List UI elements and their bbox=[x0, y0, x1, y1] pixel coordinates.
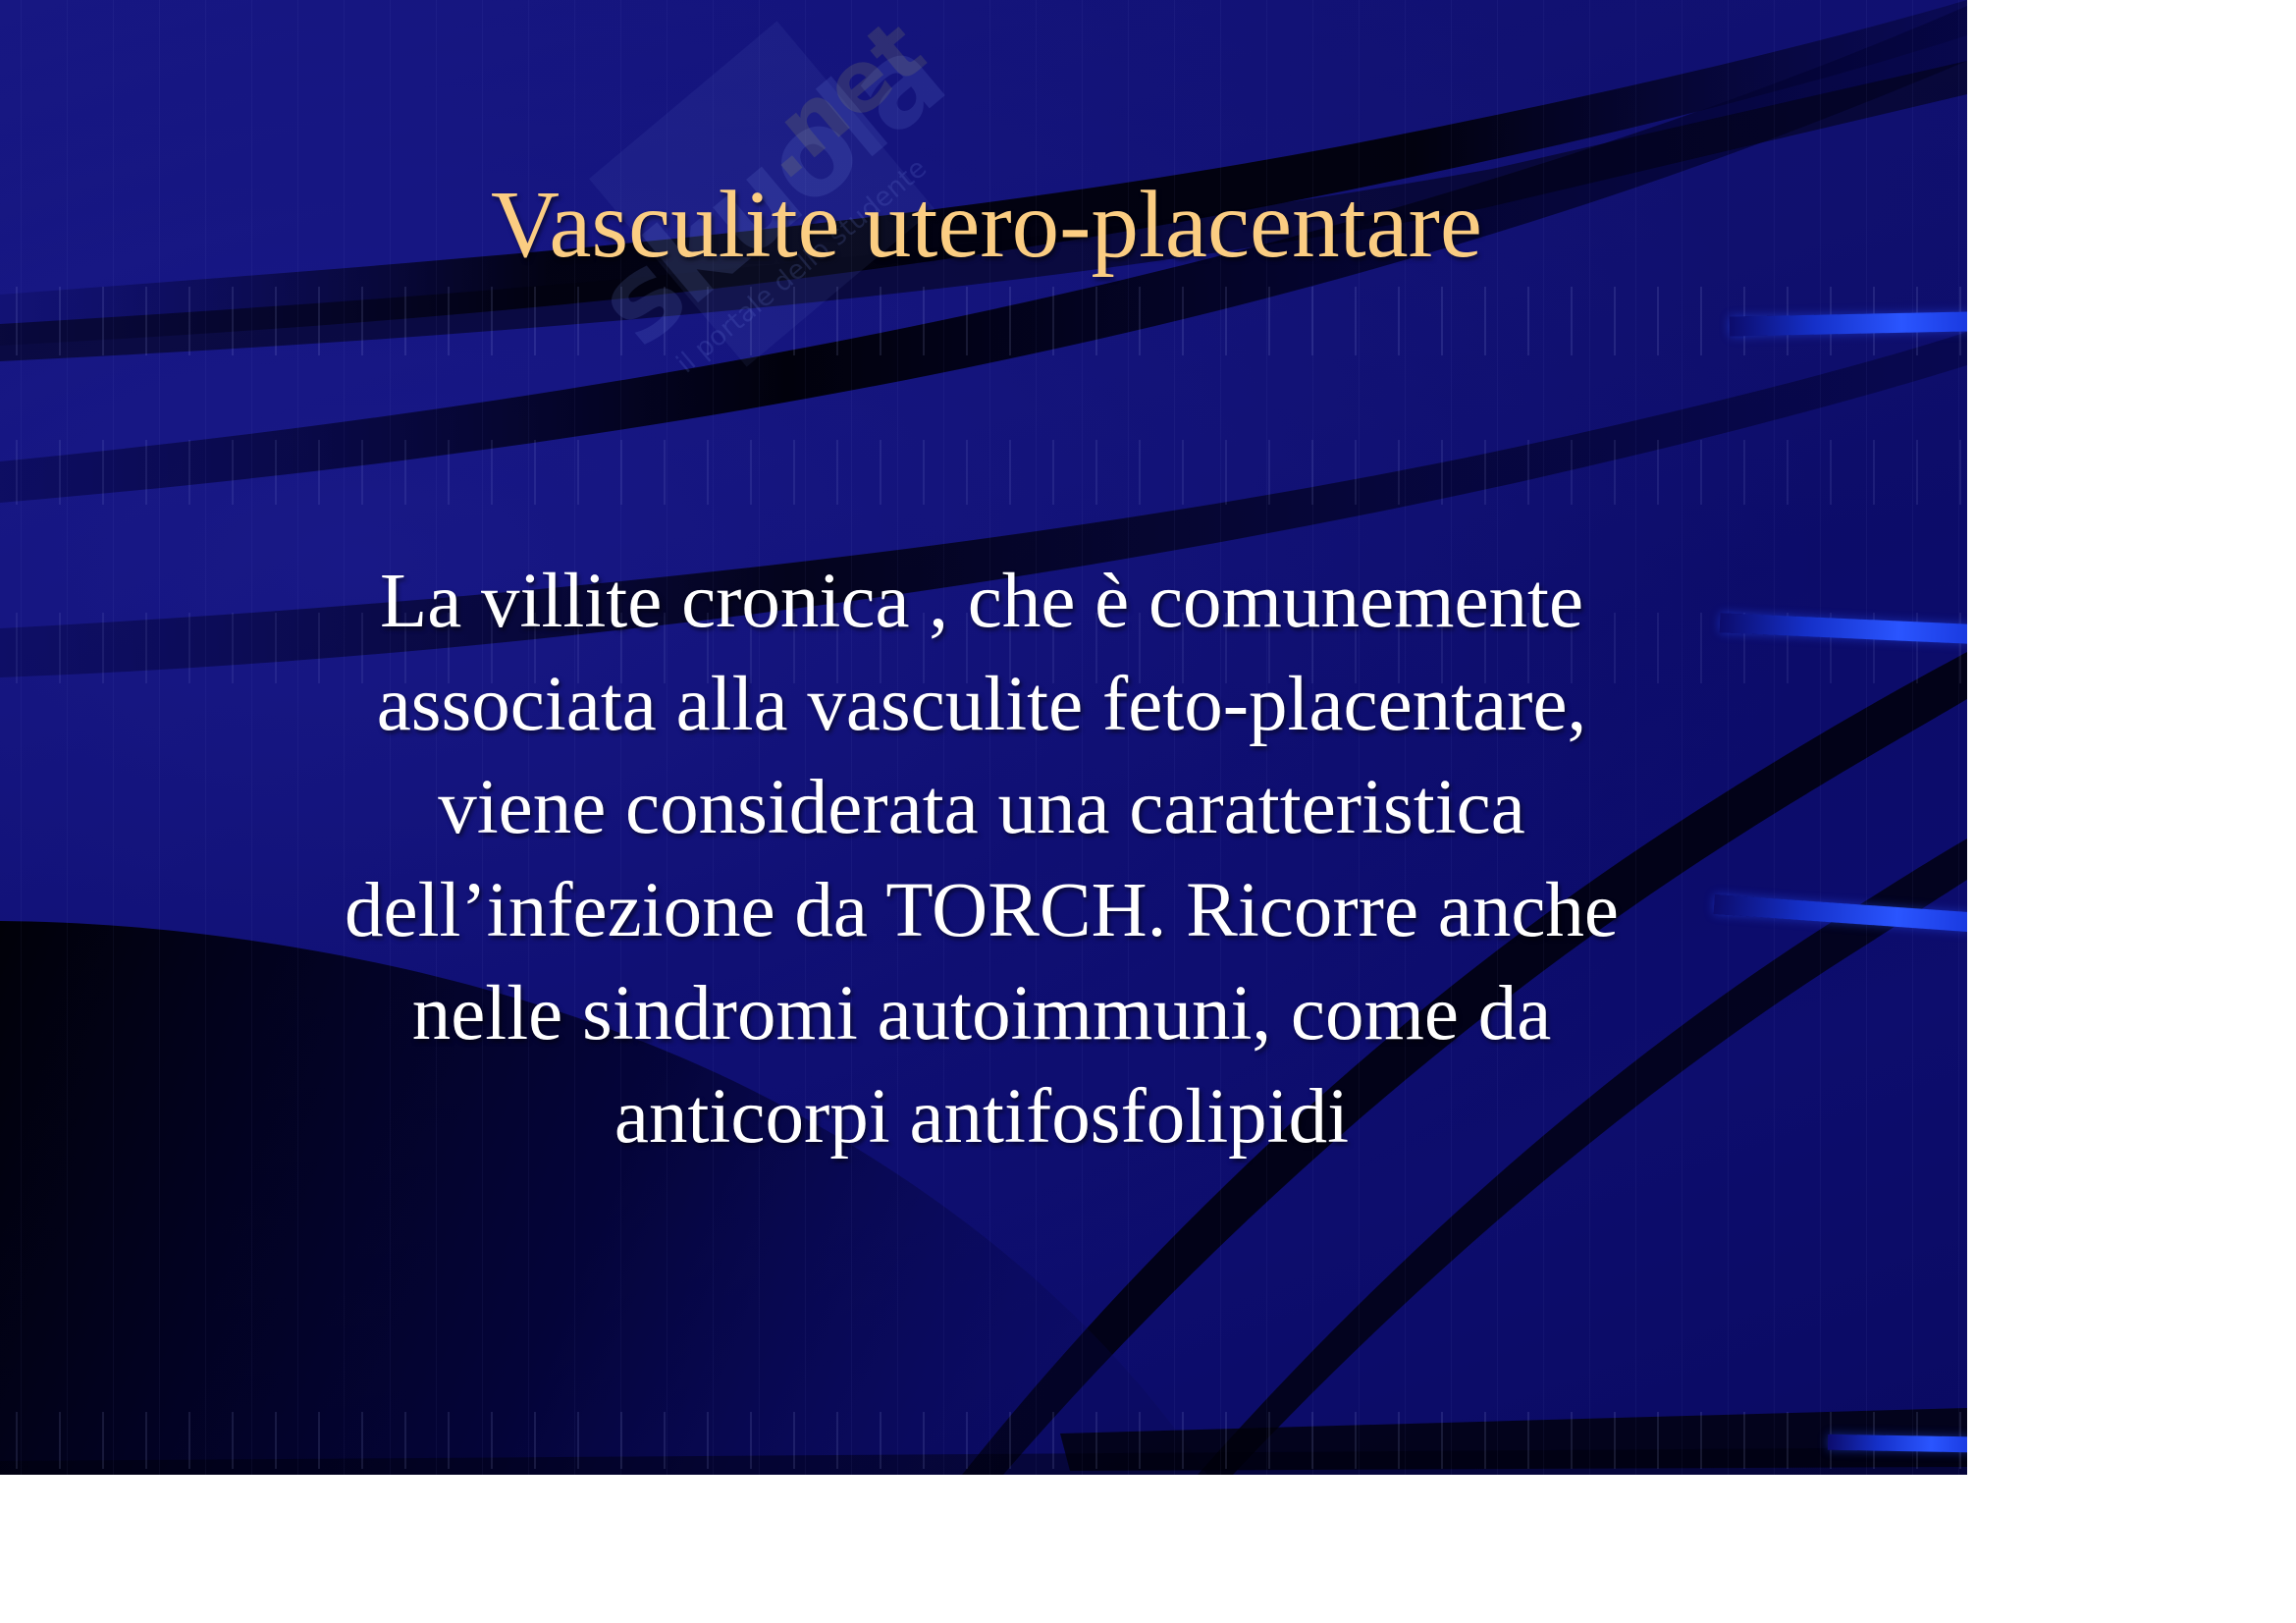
body-line-5: nelle sindromi autoimmuni, come da bbox=[147, 962, 1816, 1065]
slide-body-text: La villite cronica , che è comunemente a… bbox=[147, 550, 1816, 1168]
body-line-1: La villite cronica , che è comunemente bbox=[147, 550, 1816, 653]
accent-bar-4 bbox=[1828, 1434, 1967, 1453]
presentation-slide: skuola .net il portale dello studente Va… bbox=[0, 0, 1967, 1475]
body-line-2: associata alla vasculite feto-placentare… bbox=[147, 653, 1816, 756]
body-line-3: viene considerata una caratteristica bbox=[147, 756, 1816, 859]
slide-title: Vasculite utero-placentare bbox=[118, 175, 1855, 276]
body-line-6: anticorpi antifosfolipidi bbox=[147, 1065, 1816, 1168]
body-line-4: dell’infezione da TORCH. Ricorre anche bbox=[147, 859, 1816, 962]
